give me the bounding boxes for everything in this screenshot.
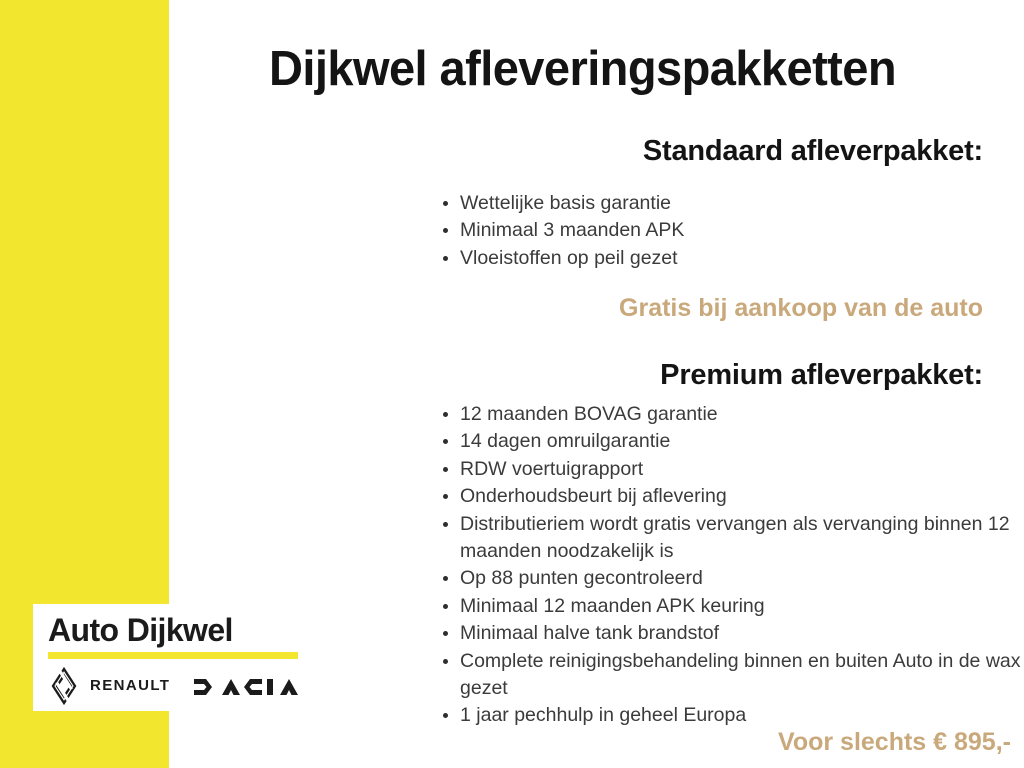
list-item: Wettelijke basis garantie	[442, 190, 684, 217]
list-item: Minimaal 3 maanden APK	[442, 217, 684, 244]
list-item: Vloeistoffen op peil gezet	[442, 245, 684, 272]
dealer-logo: Auto Dijkwel RENAULT	[33, 604, 313, 711]
logo-yellow-rule	[48, 652, 298, 659]
list-item: 1 jaar pechhulp in geheel Europa	[442, 702, 1024, 729]
premium-section-heading: Premium afleverpakket:	[660, 358, 983, 392]
standaard-price-note: Gratis bij aankoop van de auto	[619, 293, 983, 323]
logo-brand-row: RENAULT	[45, 666, 303, 706]
list-item: 14 dagen omruilgarantie	[442, 428, 1024, 455]
dacia-logo	[192, 676, 307, 703]
renault-diamond-icon	[45, 667, 83, 710]
list-item: RDW voertuigrapport	[442, 456, 1024, 483]
list-item: Minimaal halve tank brandstof	[442, 620, 1024, 647]
list-item: 12 maanden BOVAG garantie	[442, 401, 1024, 428]
page-title: Dijkwel afleveringspakketten	[196, 41, 969, 97]
slide-canvas: Dijkwel afleveringspakketten Standaard a…	[0, 0, 1024, 768]
list-item: Complete reinigingsbehandeling binnen en…	[442, 648, 1024, 703]
logo-wordmark: Auto Dijkwel	[48, 611, 233, 649]
premium-feature-list: 12 maanden BOVAG garantie 14 dagen omrui…	[442, 401, 1024, 730]
list-item: Onderhoudsbeurt bij aflevering	[442, 483, 1024, 510]
list-item: Op 88 punten gecontroleerd	[442, 565, 1024, 592]
premium-price-note: Voor slechts € 895,-	[778, 727, 1011, 757]
renault-label: RENAULT	[90, 677, 170, 694]
standaard-feature-list: Wettelijke basis garantie Minimaal 3 maa…	[442, 190, 684, 272]
list-item: Minimaal 12 maanden APK keuring	[442, 593, 1024, 620]
standaard-section-heading: Standaard afleverpakket:	[643, 134, 983, 168]
list-item: Distributieriem wordt gratis vervangen a…	[442, 511, 1024, 566]
